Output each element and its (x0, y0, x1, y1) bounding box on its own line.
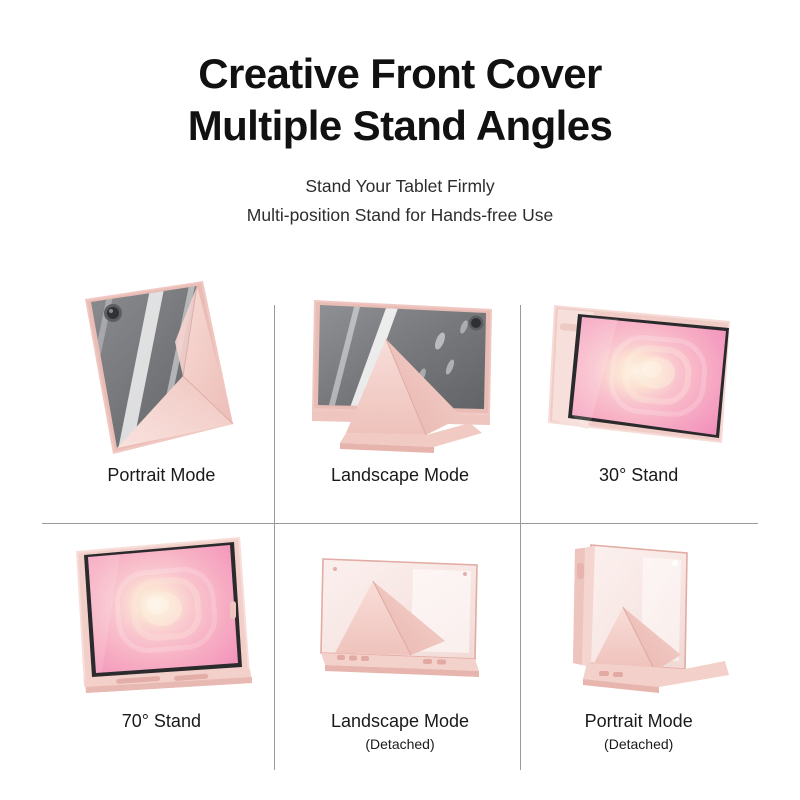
cell-caption: Portrait Mode (585, 710, 693, 732)
tablet-landscape-back-illustration (294, 283, 506, 455)
product-image-landscape-back-stand (281, 278, 520, 460)
product-image-screen-tilt-30 (519, 278, 758, 460)
cell-caption: Landscape Mode (331, 464, 469, 486)
product-image-portrait-back-stand (42, 278, 281, 460)
page-title-line-2: Multiple Stand Angles (0, 100, 800, 152)
case-portrait-detached-illustration (539, 529, 739, 701)
tablet-portrait-back-illustration (57, 280, 265, 458)
feature-cell-landscape-detached: Landscape Mode (Detached) (281, 524, 520, 769)
cell-caption: Portrait Mode (107, 464, 215, 486)
feature-grid: Portrait Mode (42, 278, 758, 778)
feature-row-1: Portrait Mode (42, 278, 758, 523)
case-landscape-detached-illustration (295, 535, 505, 695)
product-feature-page: Creative Front Cover Multiple Stand Angl… (0, 0, 800, 800)
header: Creative Front Cover Multiple Stand Angl… (0, 0, 800, 230)
feature-cell-landscape-mode: Landscape Mode (281, 278, 520, 523)
cell-subcaption: (Detached) (604, 735, 673, 754)
feature-cell-70-degree-stand: 70° Stand (42, 524, 281, 769)
feature-cell-30-degree-stand: 30° Stand (519, 278, 758, 523)
page-title-line-1: Creative Front Cover (0, 48, 800, 100)
subtitle-line-1: Stand Your Tablet Firmly (0, 172, 800, 201)
cell-caption: 70° Stand (122, 710, 201, 732)
subtitle-line-2: Multi-position Stand for Hands-free Use (0, 201, 800, 230)
feature-cell-portrait-detached: Portrait Mode (Detached) (519, 524, 758, 769)
cell-caption: 30° Stand (599, 464, 678, 486)
product-image-case-landscape-detached (281, 524, 520, 706)
cell-caption: Landscape Mode (331, 710, 469, 732)
cell-subcaption: (Detached) (365, 735, 434, 754)
tablet-screen-tilt70-illustration (54, 529, 268, 701)
feature-row-2: 70° Stand (42, 524, 758, 769)
product-image-screen-tilt-70 (42, 524, 281, 706)
feature-cell-portrait-mode: Portrait Mode (42, 278, 281, 523)
tablet-screen-tilt30-illustration (530, 287, 748, 451)
product-image-case-portrait-detached (519, 524, 758, 706)
